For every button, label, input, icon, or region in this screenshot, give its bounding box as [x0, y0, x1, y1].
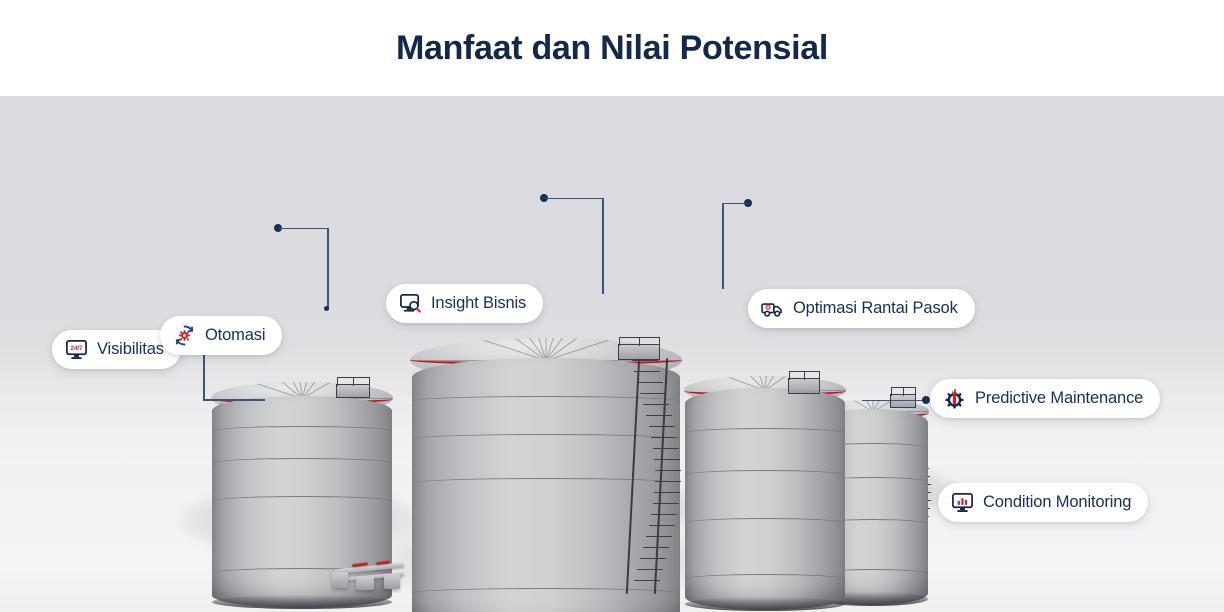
tank-top-platform: [890, 394, 916, 408]
header-bar: Manfaat dan Nilai Potensial: [0, 0, 1224, 96]
illustration-canvas: 24/7 Visibilitas: [0, 96, 1224, 612]
label-text: Otomasi: [205, 327, 265, 344]
label-text: Condition Monitoring: [983, 494, 1131, 511]
storage-tank-right: [685, 388, 845, 610]
label-text: Insight Bisnis: [431, 295, 526, 312]
tank-body: [212, 396, 392, 608]
slide-root: Manfaat dan Nilai Potensial: [0, 0, 1224, 612]
monitor-chart-icon: [951, 491, 974, 514]
label-condition-monitoring[interactable]: Condition Monitoring: [938, 483, 1148, 522]
delivery-truck-icon: [761, 297, 784, 320]
tank-body: [685, 388, 845, 610]
svg-text:24/7: 24/7: [71, 345, 84, 352]
gear-wrench-icon: [943, 387, 966, 410]
storage-tank-front: [412, 358, 680, 612]
label-text: Predictive Maintenance: [975, 390, 1143, 407]
label-insight-bisnis[interactable]: Insight Bisnis: [386, 284, 543, 323]
monitor-247-icon: 24/7: [65, 338, 88, 361]
automation-gear-icon: [173, 324, 196, 347]
label-otomasi[interactable]: Otomasi: [160, 316, 282, 355]
monitor-search-icon: [399, 292, 422, 315]
connector-optimasi-rantai-pasok: [718, 199, 760, 297]
label-text: Visibilitas: [97, 341, 164, 358]
tank-top-platform: [336, 384, 370, 398]
tank-top-platform: [788, 378, 820, 394]
tank-top-platform: [618, 344, 660, 360]
page-title: Manfaat dan Nilai Potensial: [396, 31, 828, 65]
label-optimasi-rantai-pasok[interactable]: Optimasi Rantai Pasok: [748, 289, 975, 328]
connector-insight-bisnis: [540, 194, 620, 299]
storage-tank-left: [212, 396, 392, 608]
label-predictive-maintenance[interactable]: Predictive Maintenance: [930, 379, 1160, 418]
label-text: Optimasi Rantai Pasok: [793, 300, 958, 317]
connector-otomasi: [274, 224, 344, 319]
tank-body: [412, 358, 680, 612]
